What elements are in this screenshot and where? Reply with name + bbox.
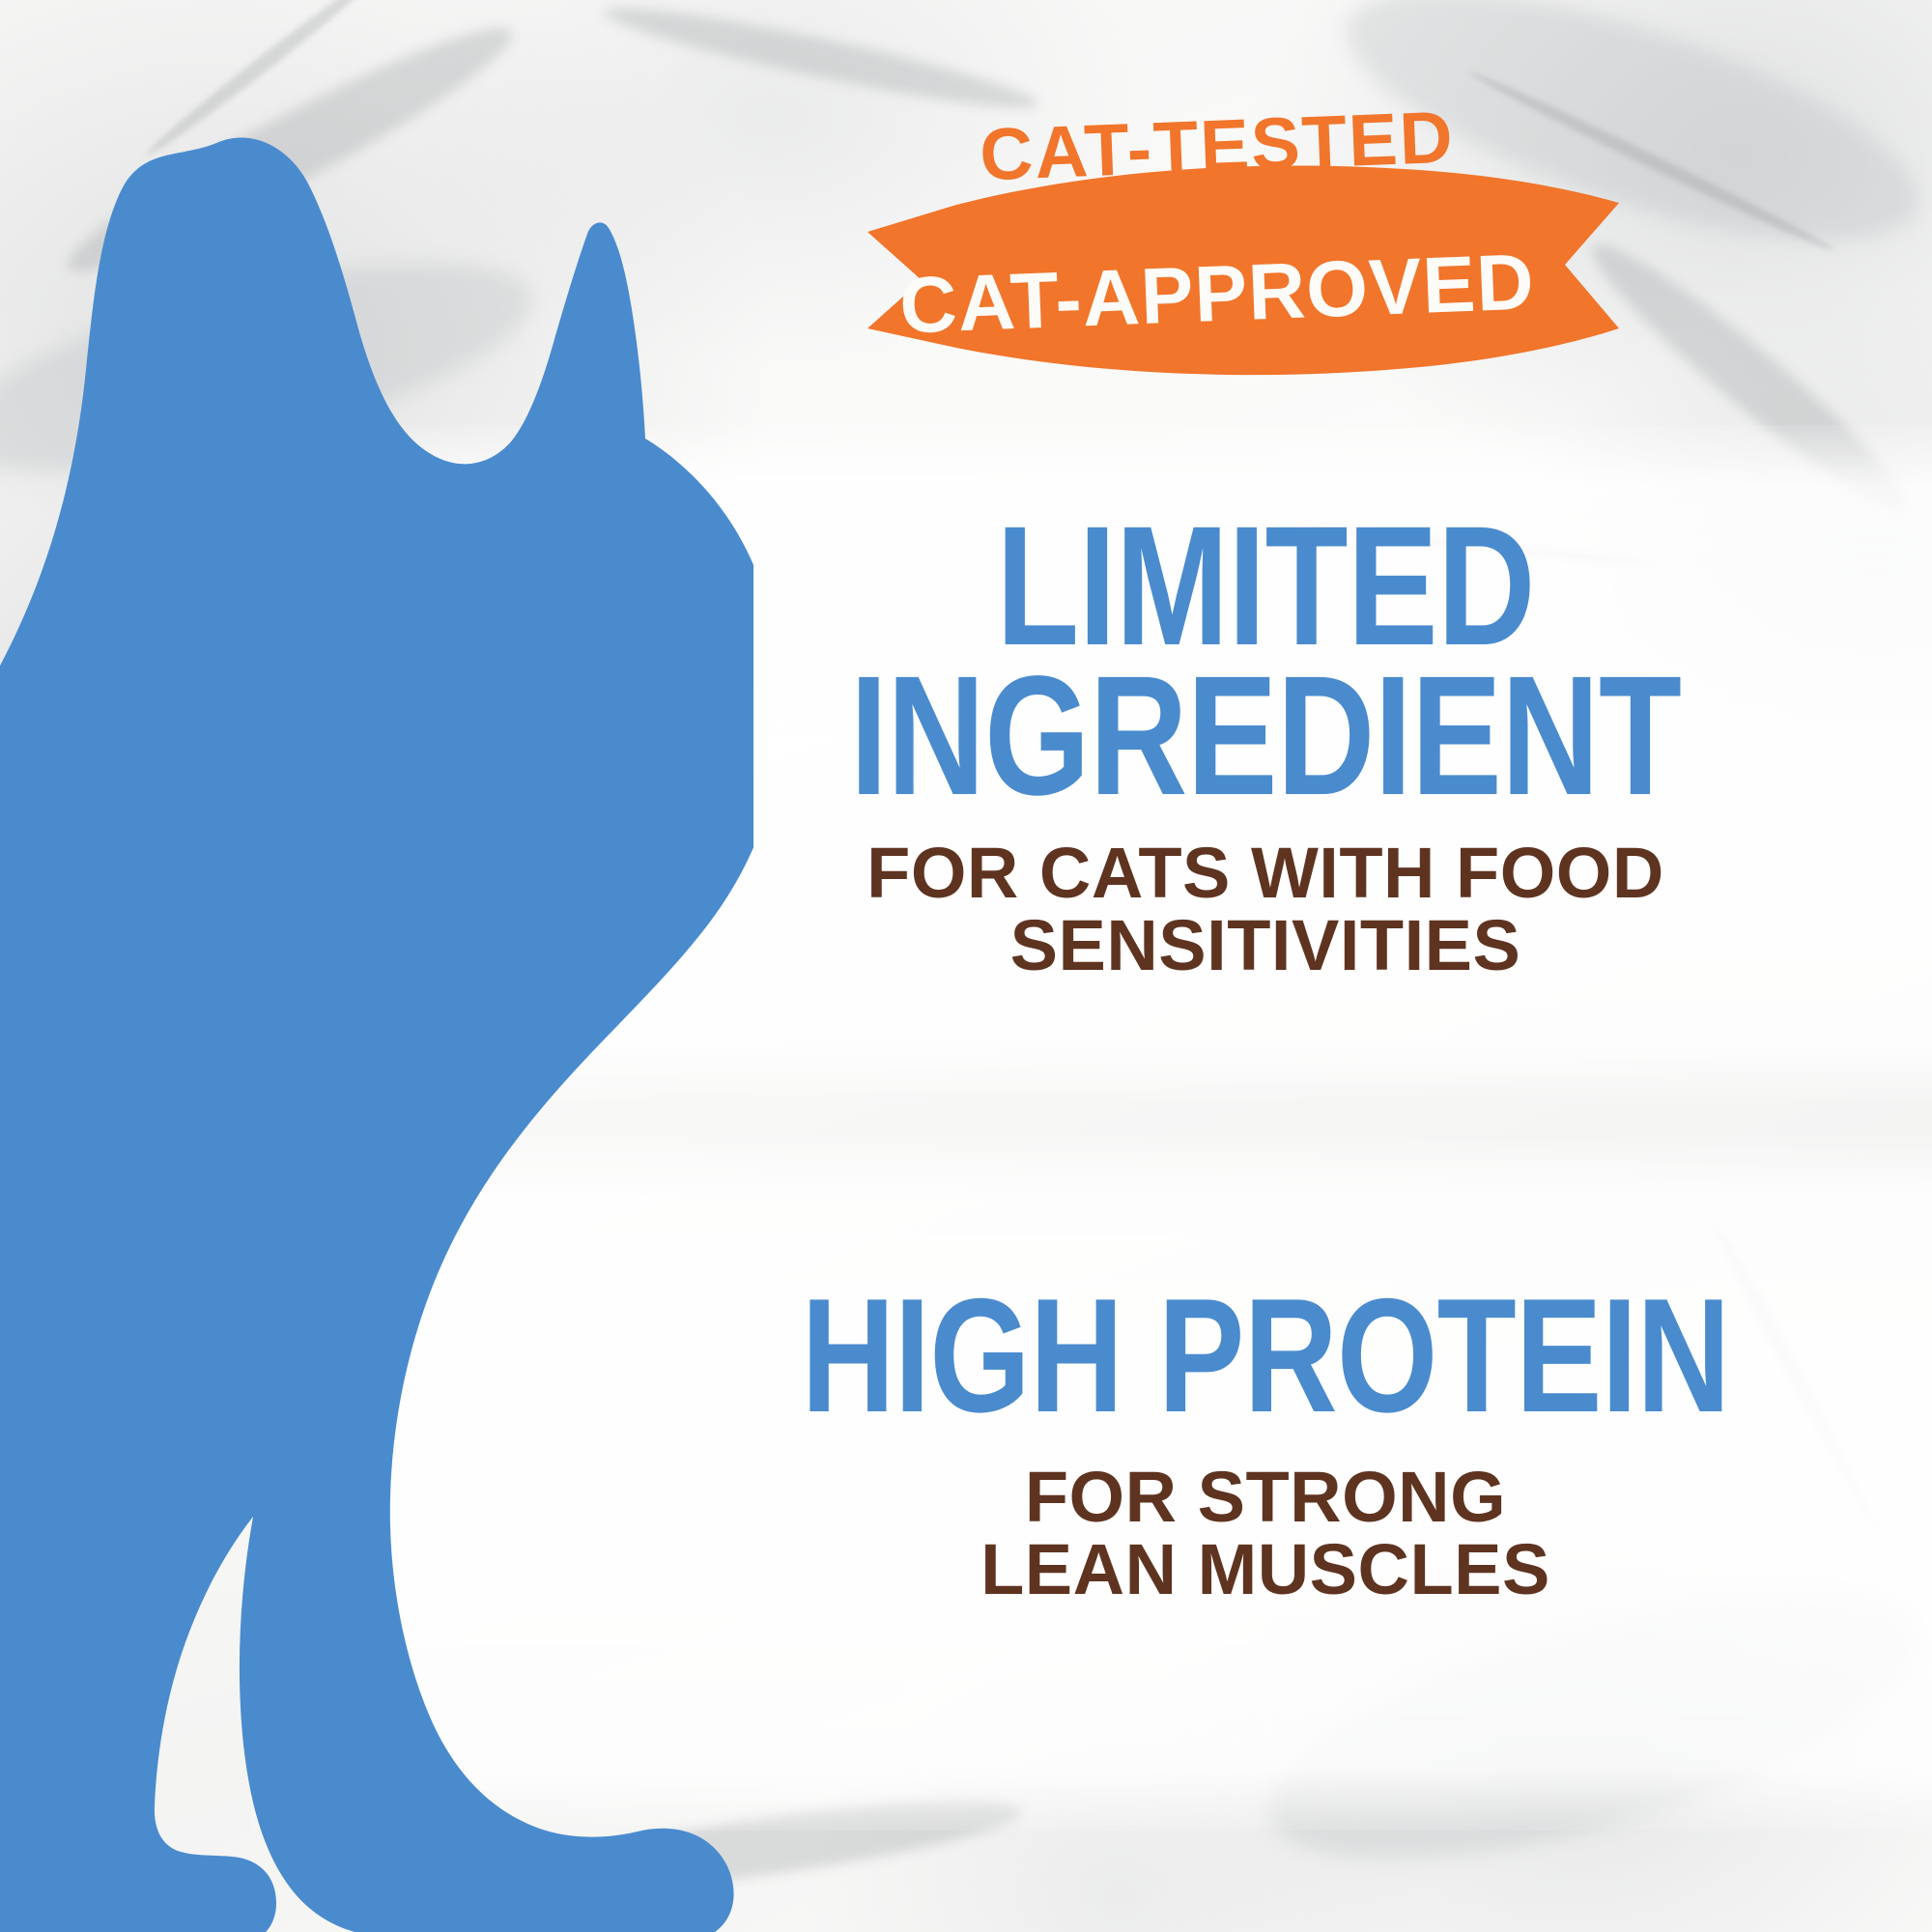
feature-title-line-1: HIGH PROTEIN xyxy=(748,1285,1783,1428)
cat-approved-badge: CAT-TESTED CAT-APPROVED xyxy=(802,87,1633,396)
feature-subtitle-line-1: FOR STRONG xyxy=(618,1461,1913,1533)
feature-subtitle-line-1: FOR CATS WITH FOOD xyxy=(618,837,1913,909)
feature-title-line-2: INGREDIENT xyxy=(748,662,1783,811)
promo-graphic: CAT-TESTED CAT-APPROVED LIMITED INGREDIE… xyxy=(0,0,1932,1932)
feature-high-protein: HIGH PROTEIN FOR STRONG LEAN MUSCLES xyxy=(618,1285,1913,1606)
feature-subtitle: FOR CATS WITH FOOD SENSITIVITIES xyxy=(618,837,1913,982)
cat-silhouette-icon xyxy=(0,126,753,1932)
feature-subtitle: FOR STRONG LEAN MUSCLES xyxy=(618,1461,1913,1606)
feature-subtitle-line-2: LEAN MUSCLES xyxy=(618,1533,1913,1605)
feature-title: LIMITED INGREDIENT xyxy=(748,512,1783,811)
feature-title: HIGH PROTEIN xyxy=(748,1285,1783,1428)
feature-subtitle-line-2: SENSITIVITIES xyxy=(618,909,1913,981)
feature-title-line-1: LIMITED xyxy=(748,512,1783,662)
feature-limited-ingredient: LIMITED INGREDIENT FOR CATS WITH FOOD SE… xyxy=(618,512,1913,982)
